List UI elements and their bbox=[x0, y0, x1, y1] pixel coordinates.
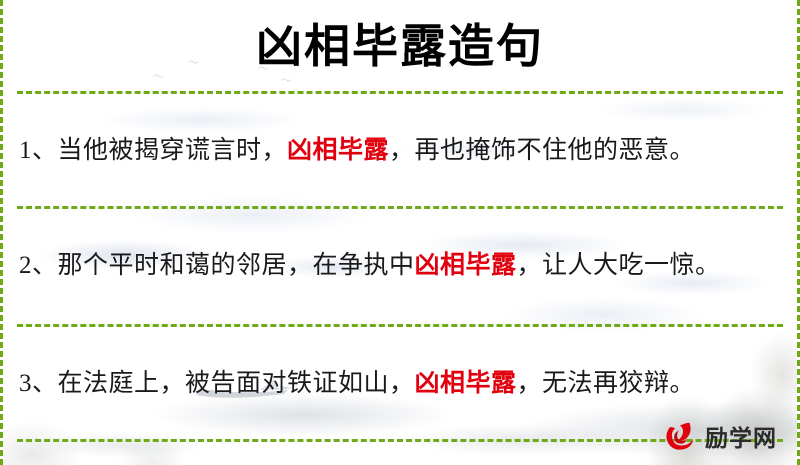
sentence-number-1: 1、 bbox=[19, 137, 58, 164]
keyword-highlight-1: 凶相毕露 bbox=[287, 137, 389, 164]
sentence-before-3: 在法庭上，被告面对铁证如山， bbox=[58, 370, 415, 397]
sentence-after-2: ，让人大吃一惊。 bbox=[517, 252, 721, 279]
page-title: 凶相毕露造句 bbox=[3, 0, 797, 91]
sentence-item-3: 3、在法庭上，被告面对铁证如山，凶相毕露，无法再狡辩。 bbox=[3, 352, 797, 415]
site-logo[interactable]: 励学网 bbox=[661, 417, 777, 455]
sentence-number-2: 2、 bbox=[19, 252, 58, 279]
sentence-number-3: 3、 bbox=[19, 370, 58, 397]
sentence-before-1: 当他被揭穿谎言时， bbox=[58, 137, 288, 164]
sentence-before-2: 那个平时和蔼的邻居，在争执中 bbox=[58, 252, 415, 279]
sentence-item-1: 1、当他被揭穿谎言时，凶相毕露，再也掩饰不住他的恶意。 bbox=[3, 119, 797, 182]
keyword-highlight-2: 凶相毕露 bbox=[415, 252, 517, 279]
sentence-item-2: 2、那个平时和蔼的邻居，在争执中凶相毕露，让人大吃一惊。 bbox=[3, 234, 797, 299]
brand-name: 励学网 bbox=[705, 419, 777, 453]
separator-top bbox=[17, 91, 783, 94]
separator-2 bbox=[17, 324, 783, 327]
separator-1 bbox=[17, 206, 783, 209]
flame-swirl-icon bbox=[661, 417, 699, 455]
page-root: 〜 〜 〜 〜 凶相毕露造句 1、当他被揭穿谎言时，凶相毕露，再也掩饰不住他的恶… bbox=[0, 0, 800, 465]
keyword-highlight-3: 凶相毕露 bbox=[415, 370, 517, 397]
sentence-after-1: ，再也掩饰不住他的恶意。 bbox=[389, 137, 695, 164]
sentence-after-3: ，无法再狡辩。 bbox=[517, 370, 696, 397]
